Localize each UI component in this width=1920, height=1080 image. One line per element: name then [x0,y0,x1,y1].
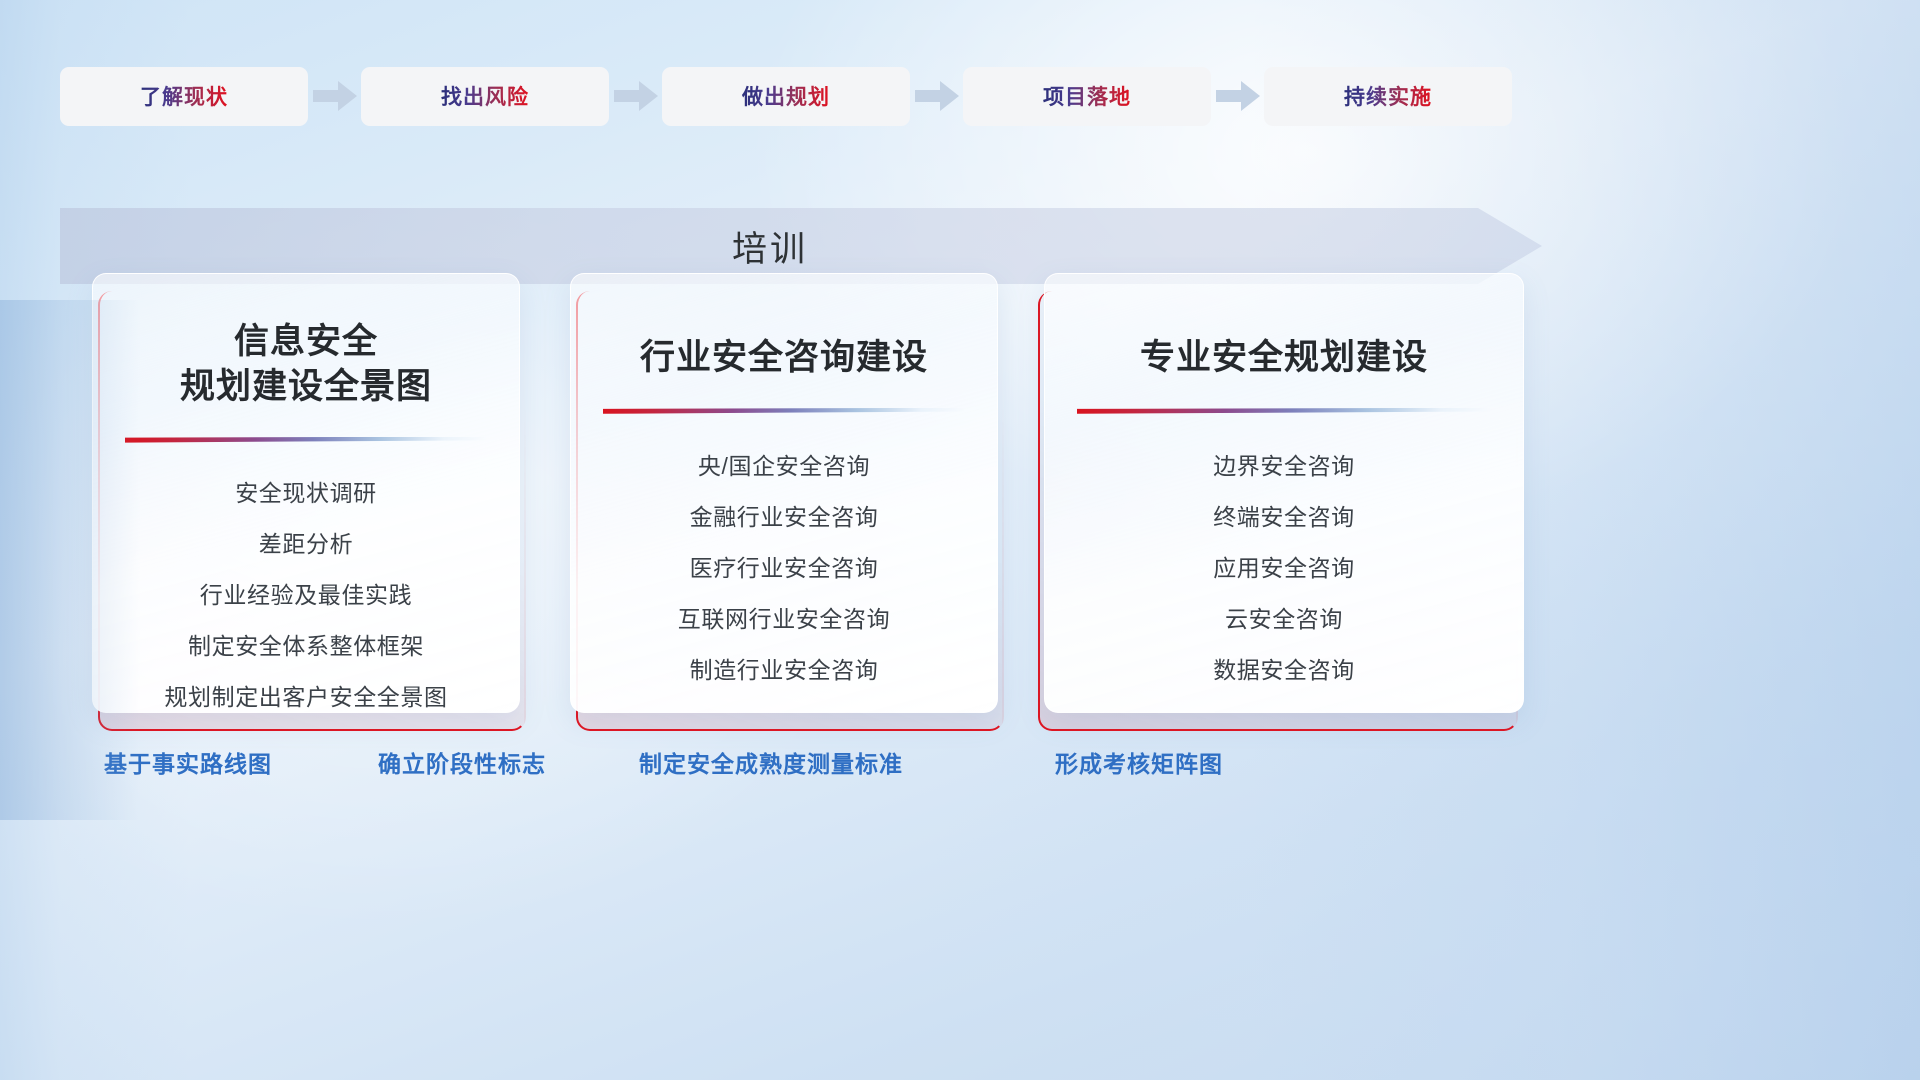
caption-maturity-standard: 制定安全成熟度测量标准 [639,745,903,779]
arrow-right-icon [308,81,361,111]
arrow-right-icon [609,81,662,111]
card-divider [1077,407,1491,415]
list-item: 行业经验及最佳实践 [200,576,412,610]
list-item: 数据安全咨询 [1213,651,1355,685]
card-body: 信息安全 规划建设全景图 安全现状调研 差距分析 行业经验及最佳实践 制定安全体… [92,273,520,713]
list-item: 央/国企安全咨询 [698,447,870,481]
process-step-label: 项目落地 [1043,81,1131,111]
process-step-2[interactable]: 找出风险 [361,67,609,126]
card-list: 安全现状调研 差距分析 行业经验及最佳实践 制定安全体系整体框架 规划制定出客户… [115,474,497,712]
list-item: 差距分析 [259,525,353,559]
process-step-label: 找出风险 [441,81,529,111]
card-body: 行业安全咨询建设 央/国企安全咨询 金融行业安全咨询 医疗行业安全咨询 互联网行… [570,273,998,713]
list-item: 制造行业安全咨询 [690,651,879,685]
list-item: 医疗行业安全咨询 [690,549,879,583]
card-list: 边界安全咨询 终端安全咨询 应用安全咨询 云安全咨询 数据安全咨询 [1067,447,1501,685]
card-professional-security-planning[interactable]: 专业安全规划建设 边界安全咨询 终端安全咨询 应用安全咨询 云安全咨询 数据安全… [1044,273,1524,713]
process-step-4[interactable]: 项目落地 [963,67,1211,126]
list-item: 边界安全咨询 [1213,447,1355,481]
caption-row: 基于事实路线图 确立阶段性标志 制定安全成熟度测量标准 形成考核矩阵图 [0,745,1920,785]
list-item: 终端安全咨询 [1213,498,1355,532]
card-row: 信息安全 规划建设全景图 安全现状调研 差距分析 行业经验及最佳实践 制定安全体… [92,273,1524,713]
card-divider [603,407,965,415]
card-list: 央/国企安全咨询 金融行业安全咨询 医疗行业安全咨询 互联网行业安全咨询 制造行… [593,447,975,685]
list-item: 安全现状调研 [235,474,377,508]
card-title: 信息安全 规划建设全景图 [115,320,497,410]
list-item: 规划制定出客户安全全景图 [164,678,447,712]
card-industry-security-consulting[interactable]: 行业安全咨询建设 央/国企安全咨询 金融行业安全咨询 医疗行业安全咨询 互联网行… [570,273,998,713]
caption-roadmap: 基于事实路线图 [104,745,272,779]
process-step-label: 了解现状 [140,81,228,111]
process-step-row: 了解现状 找出风险 做出规划 项目落地 [60,66,1512,126]
card-title: 专业安全规划建设 [1067,336,1501,381]
list-item: 金融行业安全咨询 [690,498,879,532]
process-step-1[interactable]: 了解现状 [60,67,308,126]
card-title: 行业安全咨询建设 [593,336,975,381]
process-step-5[interactable]: 持续实施 [1264,67,1512,126]
list-item: 云安全咨询 [1225,600,1343,634]
card-divider [125,436,487,442]
caption-milestones: 确立阶段性标志 [378,745,546,779]
list-item: 应用安全咨询 [1213,549,1355,583]
arrow-right-icon [1211,81,1264,111]
list-item: 互联网行业安全咨询 [678,600,890,634]
card-body: 专业安全规划建设 边界安全咨询 终端安全咨询 应用安全咨询 云安全咨询 数据安全… [1044,273,1524,713]
process-step-3[interactable]: 做出规划 [662,67,910,126]
slide-canvas: 了解现状 找出风险 做出规划 项目落地 [0,0,1920,1080]
arrow-right-icon [910,81,963,111]
process-step-label: 持续实施 [1344,81,1432,111]
caption-assessment-matrix: 形成考核矩阵图 [1055,745,1223,779]
process-step-label: 做出规划 [742,81,830,111]
card-information-security-blueprint[interactable]: 信息安全 规划建设全景图 安全现状调研 差距分析 行业经验及最佳实践 制定安全体… [92,273,520,713]
list-item: 制定安全体系整体框架 [188,627,424,661]
